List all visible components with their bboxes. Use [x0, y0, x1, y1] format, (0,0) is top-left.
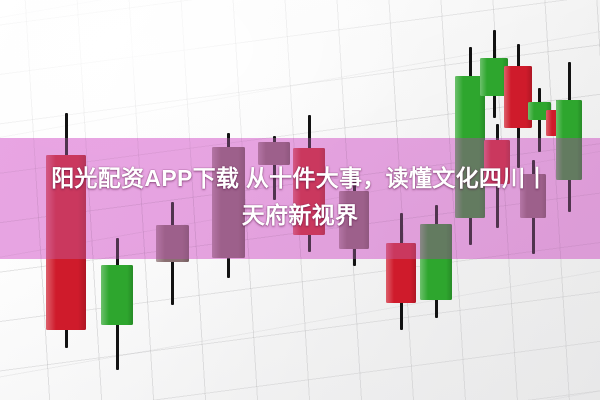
headline-line-1: 阳光配资APP下载 从十件大事，读懂文化四川丨: [8, 160, 592, 197]
headline-line-2: 天府新视界: [8, 197, 592, 234]
candlestick-body: [101, 265, 133, 325]
headline-overlay: 阳光配资APP下载 从十件大事，读懂文化四川丨 天府新视界: [0, 160, 600, 234]
chart-screenshot: 阳光配资APP下载 从十件大事，读懂文化四川丨 天府新视界: [0, 0, 600, 400]
